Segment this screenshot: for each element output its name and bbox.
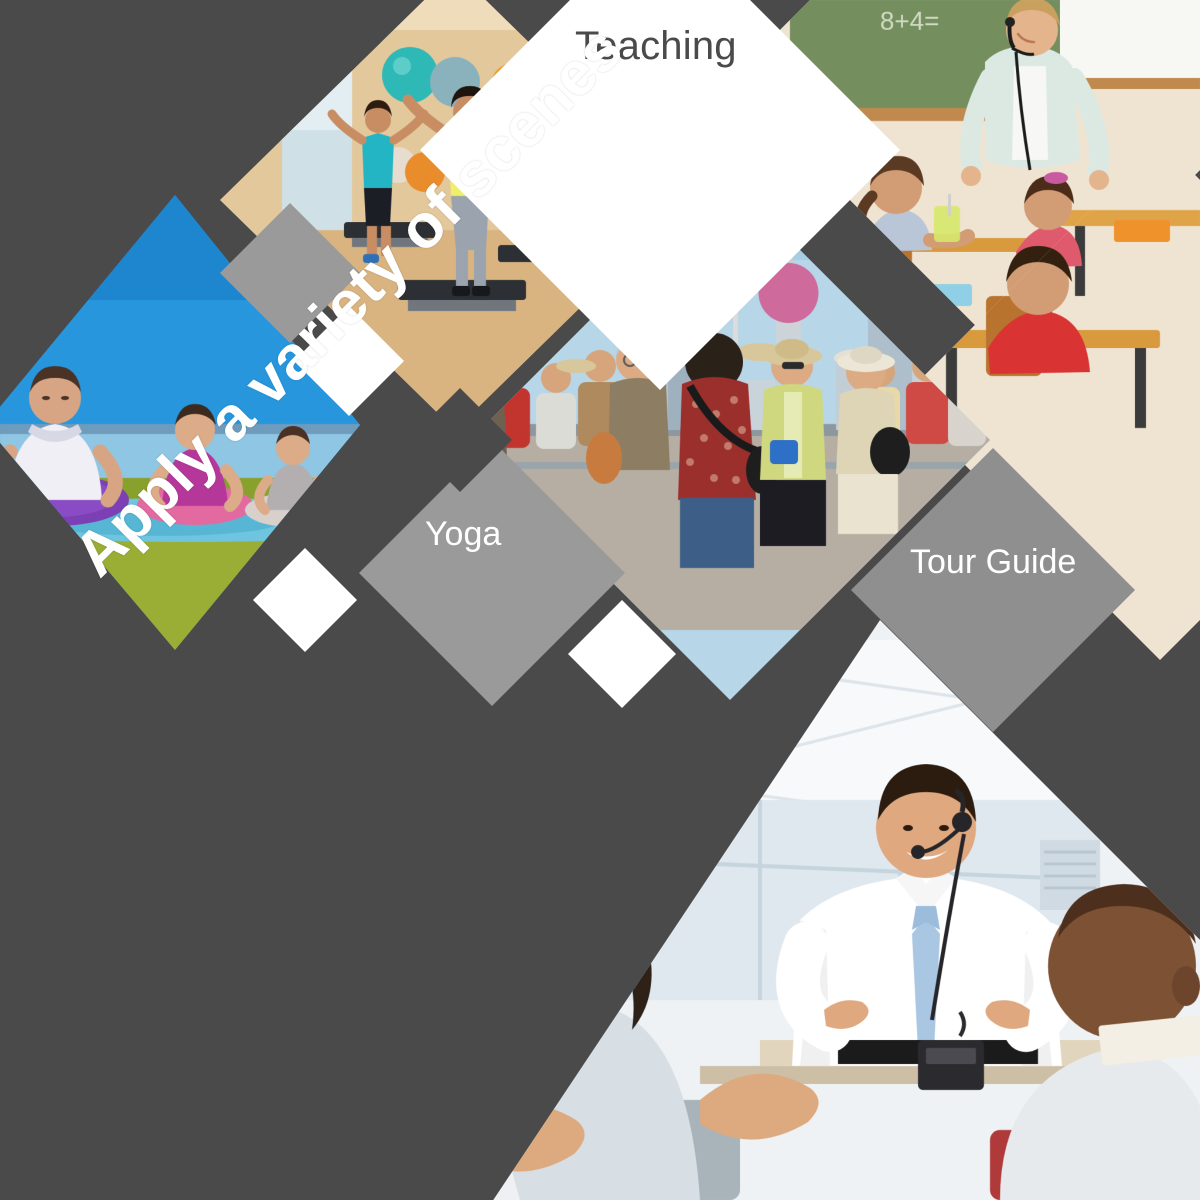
poster-canvas: 4+1=5 8+4= (0, 0, 1200, 1200)
diamond-collage: 4+1=5 8+4= (0, 0, 1200, 1200)
